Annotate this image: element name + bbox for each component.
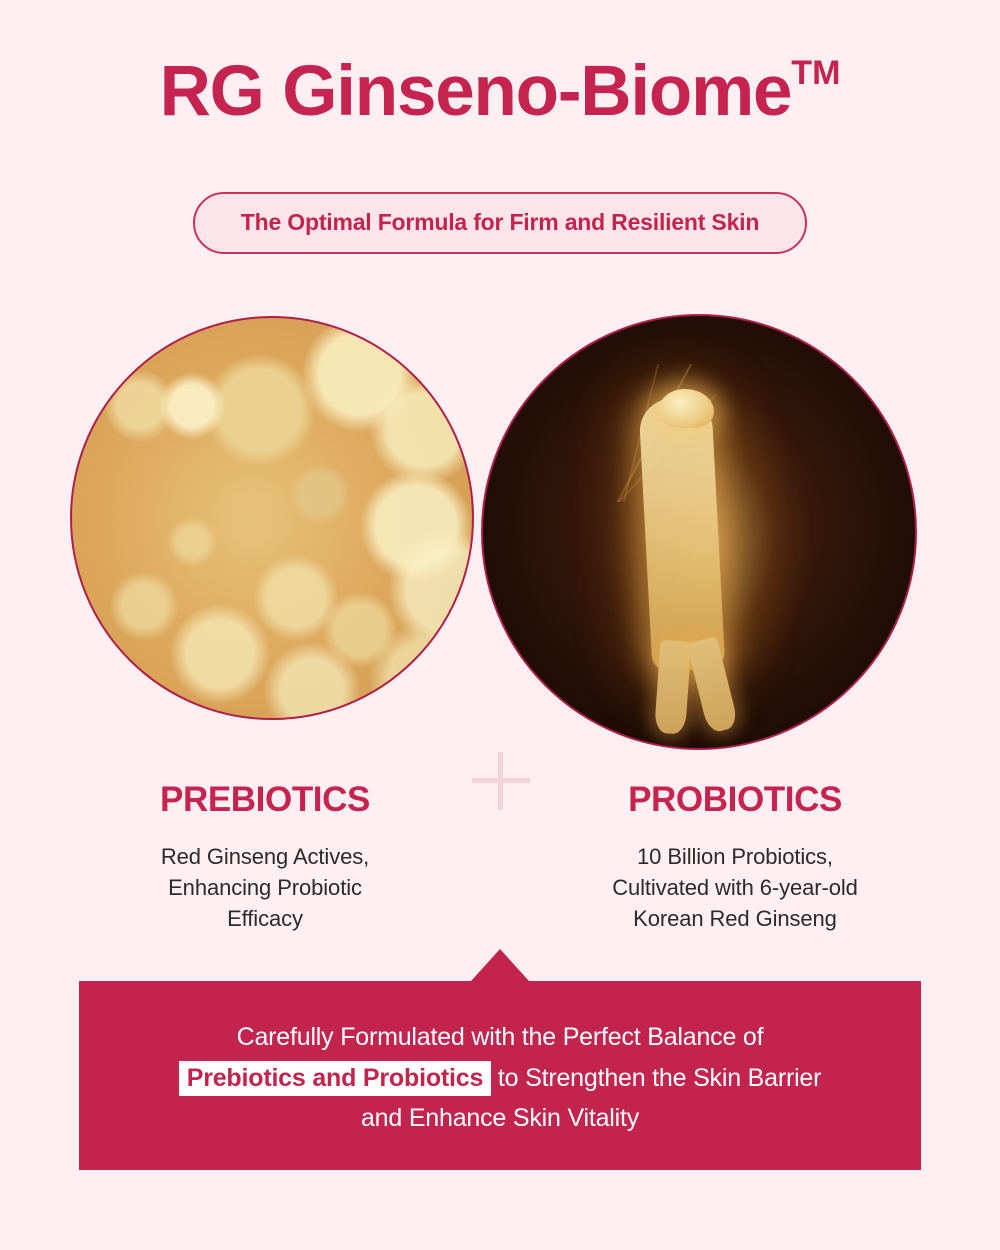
- plus-icon: [472, 752, 530, 810]
- prebiotics-description: Red Ginseng Actives, Enhancing Probiotic…: [30, 841, 500, 935]
- page-title: RG Ginseno-BiomeTM: [0, 56, 1000, 127]
- product-infographic: { "theme": { "background": "#fdeff2", "b…: [0, 0, 1000, 1250]
- banner-notch-triangle: [471, 949, 529, 981]
- probiotics-column: PROBIOTICS 10 Billion Probiotics, Cultiv…: [500, 782, 970, 935]
- product-name-text: RG Ginseno-Biome: [160, 52, 792, 131]
- plus-icon-vertical-bar: [498, 752, 503, 810]
- probiotics-description: 10 Billion Probiotics, Cultivated with 6…: [500, 841, 970, 935]
- prebiotics-heading: PREBIOTICS: [30, 782, 500, 817]
- summary-banner-text: Carefully Formulated with the Perfect Ba…: [79, 1017, 921, 1139]
- banner-line-1: Carefully Formulated with the Perfect Ba…: [237, 1023, 764, 1051]
- subtitle-badge: The Optimal Formula for Firm and Resilie…: [193, 192, 807, 254]
- subtitle-badge-wrapper: The Optimal Formula for Firm and Resilie…: [0, 192, 1000, 254]
- ingredient-images: [0, 314, 1000, 744]
- ginseng-root-body: [638, 396, 726, 672]
- summary-banner: Carefully Formulated with the Perfect Ba…: [79, 981, 921, 1170]
- probiotics-image-circle: [481, 314, 917, 750]
- banner-highlight: Prebiotics and Probiotics: [179, 1061, 491, 1096]
- product-name: RG Ginseno-BiomeTM: [160, 56, 841, 127]
- banner-line-3: and Enhance Skin Vitality: [361, 1104, 639, 1132]
- probiotics-heading: PROBIOTICS: [500, 782, 970, 817]
- trademark-symbol: TM: [791, 54, 840, 92]
- banner-line-2: to Strengthen the Skin Barrier: [491, 1064, 821, 1092]
- prebiotics-image-circle: [70, 316, 474, 720]
- ginseng-root-head: [658, 389, 714, 428]
- prebiotics-column: PREBIOTICS Red Ginseng Actives, Enhancin…: [30, 782, 500, 935]
